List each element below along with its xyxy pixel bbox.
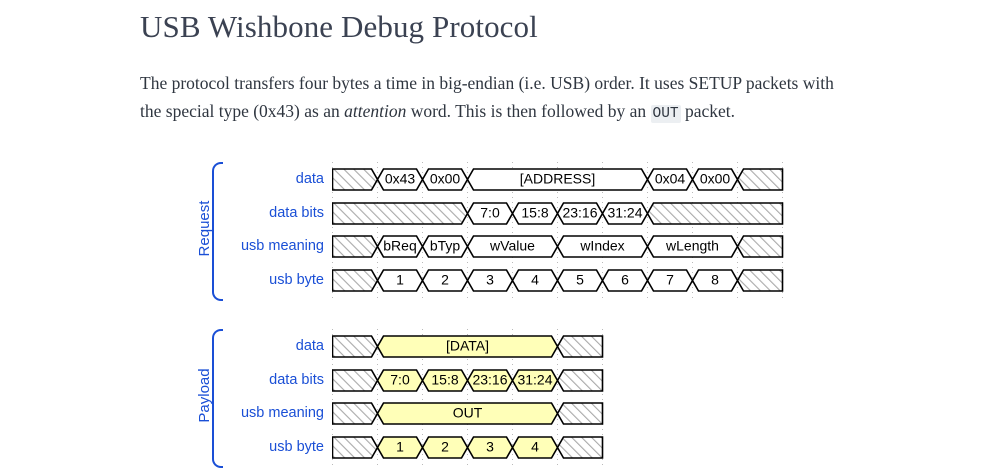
svg-text:7:0: 7:0 [390,371,410,387]
lane-payload-data-bits: 7:015:823:1631:24 [332,369,604,393]
intro-text-part2: word. This is then followed by an [406,101,650,121]
row-label-usb-meaning: usb meaning [0,406,324,421]
svg-text:1: 1 [396,438,404,454]
section-brace-payload [212,329,223,468]
svg-text:7: 7 [666,271,674,287]
svg-text:3: 3 [486,271,494,287]
svg-text:0x00: 0x00 [700,171,731,187]
svg-text:bTyp: bTyp [430,238,461,254]
intro-code-out: OUT [651,105,681,123]
svg-text:1: 1 [396,271,404,287]
svg-text:4: 4 [531,438,539,454]
svg-text:23:16: 23:16 [472,371,507,387]
lane-request-usb-meaning: bReqbTypwValuewIndexwLength [332,235,784,259]
row-label-usb-byte: usb byte [0,273,324,288]
svg-text:6: 6 [621,271,629,287]
svg-text:0x00: 0x00 [430,171,461,187]
svg-text:2: 2 [441,271,449,287]
svg-text:bReq: bReq [383,238,416,254]
document-body: USB Wishbone Debug Protocol The protocol… [140,0,870,127]
lane-request-data-bits: 7:015:823:1631:24 [332,202,784,226]
row-label-data: data [0,339,324,354]
section-label-payload: Payload [196,329,213,464]
svg-text:3: 3 [486,438,494,454]
svg-text:0x04: 0x04 [655,171,686,187]
svg-text:wLength: wLength [665,238,719,254]
row-label-data: data [0,172,324,187]
section-label-request: Request [196,162,213,297]
row-label-data-bits: data bits [0,373,324,388]
row-label-data-bits: data bits [0,206,324,221]
svg-text:OUT: OUT [453,405,483,421]
svg-text:2: 2 [441,438,449,454]
svg-text:[DATA]: [DATA] [446,338,489,354]
svg-text:31:24: 31:24 [607,204,642,220]
lane-request-usb-byte: 12345678 [332,269,784,293]
lane-payload-usb-byte: 1234 [332,436,604,460]
svg-text:15:8: 15:8 [521,204,548,220]
svg-text:wIndex: wIndex [579,238,624,254]
svg-text:4: 4 [531,271,539,287]
lane-payload-data: [DATA] [332,335,604,359]
svg-text:wValue: wValue [489,238,535,254]
section-brace-request [212,162,223,301]
svg-text:[ADDRESS]: [ADDRESS] [520,171,595,187]
svg-text:8: 8 [711,271,719,287]
row-label-usb-byte: usb byte [0,440,324,455]
lane-request-data: 0x430x00[ADDRESS]0x040x00 [332,168,784,192]
lane-payload-usb-meaning: OUT [332,402,604,426]
svg-text:31:24: 31:24 [517,371,552,387]
intro-text-part3: packet. [681,101,735,121]
intro-emphasis: attention [344,101,406,121]
svg-text:7:0: 7:0 [480,204,500,220]
svg-text:15:8: 15:8 [431,371,458,387]
svg-text:5: 5 [576,271,584,287]
svg-text:0x43: 0x43 [385,171,416,187]
intro-paragraph: The protocol transfers four bytes a time… [140,69,858,127]
svg-text:23:16: 23:16 [562,204,597,220]
row-label-usb-meaning: usb meaning [0,239,324,254]
page-title: USB Wishbone Debug Protocol [140,8,870,47]
